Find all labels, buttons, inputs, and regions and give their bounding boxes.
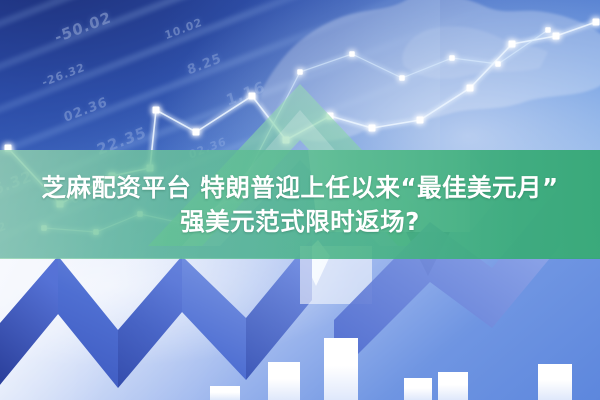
headline-line-1: 芝麻配资平台 特朗普迎上任以来“最佳美元月”	[41, 173, 558, 203]
banner-image: -11.25-50.02-02.3621.0-50.02-02.3645.02-…	[0, 0, 600, 400]
headline-line-2: 强美元范式限时返场?	[180, 207, 420, 237]
headline-text-block: 芝麻配资平台 特朗普迎上任以来“最佳美元月” 强美元范式限时返场?	[0, 150, 600, 259]
